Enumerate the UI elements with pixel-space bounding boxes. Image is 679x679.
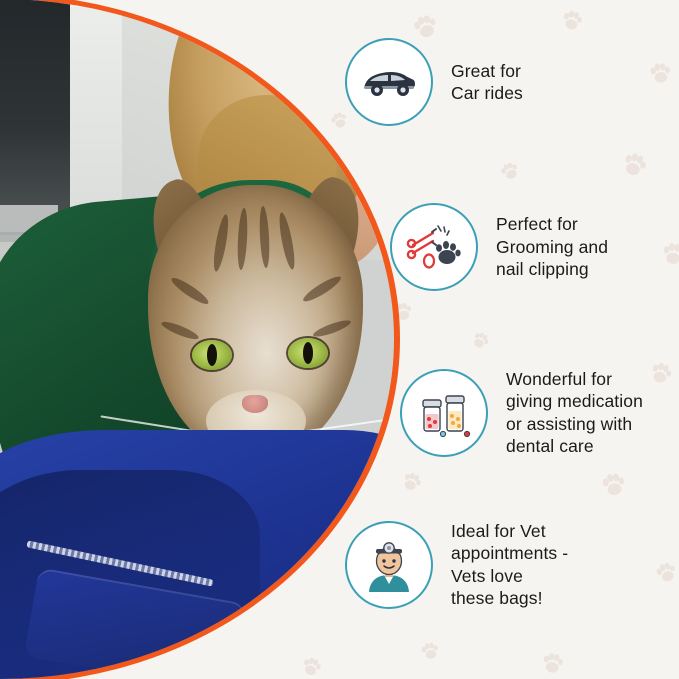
feature-line: appointments - (451, 542, 568, 564)
photo-dark-cabinet (0, 0, 70, 215)
photo-cat-pupil (207, 344, 217, 366)
feature-line: these bags! (451, 587, 568, 609)
veterinarian-icon (345, 521, 433, 609)
photo-cat-eye-right (288, 338, 328, 368)
feature-line: nail clipping (496, 258, 608, 280)
feature-line: Great for (451, 60, 523, 82)
feature-line: dental care (506, 435, 643, 457)
photo-cat-pupil (303, 342, 313, 364)
feature-line: Car rides (451, 82, 523, 104)
feature-line: Grooming and (496, 236, 608, 258)
feature-label-vet: Ideal for Vet appointments - Vets love t… (451, 520, 568, 610)
car-icon (345, 38, 433, 126)
feature-label-grooming: Perfect for Grooming and nail clipping (496, 213, 608, 280)
feature-line: or assisting with (506, 413, 643, 435)
feature-line: Ideal for Vet (451, 520, 568, 542)
feature-item-car-rides: Great for Car rides (345, 38, 523, 126)
feature-item-grooming: Perfect for Grooming and nail clipping (390, 203, 608, 291)
photo-cat-eye-left (192, 340, 232, 370)
grooming-scissors-paw-icon (390, 203, 478, 291)
feature-item-medication: Wonderful for giving medication or assis… (400, 368, 643, 458)
feature-line: giving medication (506, 390, 643, 412)
feature-item-vet: Ideal for Vet appointments - Vets love t… (345, 520, 568, 610)
feature-label-car-rides: Great for Car rides (451, 60, 523, 105)
feature-line: Vets love (451, 565, 568, 587)
feature-line: Wonderful for (506, 368, 643, 390)
product-feature-image: Great for Car rides (0, 0, 679, 679)
medication-bottles-icon (400, 369, 488, 457)
feature-label-medication: Wonderful for giving medication or assis… (506, 368, 643, 458)
feature-line: Perfect for (496, 213, 608, 235)
photo-cat-nose (242, 395, 268, 413)
